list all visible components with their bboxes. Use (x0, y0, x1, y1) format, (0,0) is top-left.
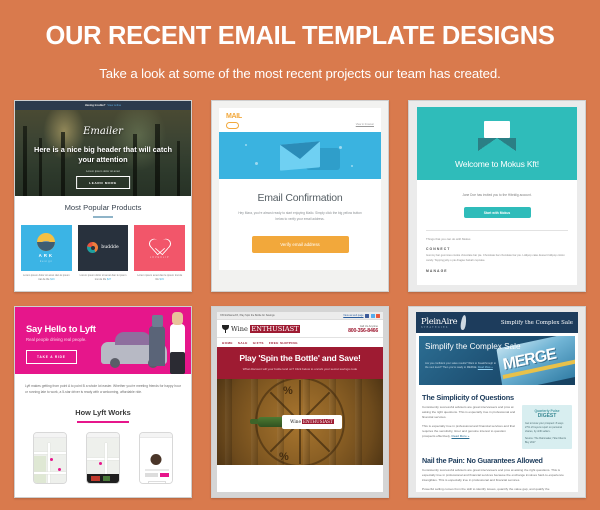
confirmation-body: Hey Mara, you're almost ready to start e… (237, 211, 363, 223)
envelope-icon (478, 121, 516, 151)
emailer-hero-image: Emailer Here is a nice big header that w… (15, 110, 191, 196)
sidebar-body: Get to know your prospect: 8 ways 27% of… (525, 422, 569, 434)
divider (426, 230, 568, 231)
template-card-emailer[interactable]: Having trouble? View online Emailer Here… (14, 100, 192, 292)
article-1-read-more-link[interactable]: Read More » (451, 434, 469, 438)
emailer-topbar-text: Having trouble? (85, 104, 105, 107)
emailer-headline: Here is a nice big header that will catc… (31, 145, 175, 165)
nav-item-home[interactable]: HOME (222, 341, 233, 345)
article-2-heading: Nail the Pain: No Guarantees Allowed (422, 456, 572, 465)
emailer-logo: Emailer (15, 126, 191, 137)
sidebar-number: DIGEST (525, 413, 569, 419)
view-in-browser-link[interactable]: View in browser (356, 123, 374, 126)
bottle-brand-word-1: Wine (290, 419, 301, 424)
template-gallery-grid: Having trouble? View online Emailer Here… (12, 100, 588, 498)
phone-mockup-driver (86, 432, 120, 484)
page-subtitle: Take a look at some of the most recent p… (10, 66, 590, 81)
pleinaire-logo-name: PleinAire (421, 316, 457, 326)
mokus-hero: Welcome to Mokus Kft! (417, 107, 577, 180)
product-price: $29 (50, 278, 54, 281)
rss-icon[interactable] (376, 314, 380, 318)
hero-body: Are you confident your sales results? Wa… (425, 362, 497, 370)
phone-mockup-rate (139, 432, 173, 484)
mokus-invite-text: Jane Doe has invited you to the Hibridig… (417, 193, 577, 197)
wine-banner: Play 'Spin the Bottle' and Save! What di… (217, 347, 383, 379)
confirmation-title: Email Confirmation (219, 192, 381, 204)
product-price: $27 (107, 278, 111, 281)
person-illustration-2 (170, 324, 185, 366)
buddde-logo-icon (87, 242, 98, 253)
product-label: ARK (39, 253, 55, 258)
lyft-hero: Say Hello to Lyft Real people driving re… (15, 307, 191, 374)
template-card-mokus[interactable]: Welcome to Mokus Kft! Jane Doe has invit… (408, 100, 586, 292)
brand-word-2: ENTHUSIAST (250, 325, 300, 333)
page-header: OUR RECENT EMAIL TEMPLATE DESIGNS Take a… (0, 0, 600, 81)
emailer-subline: Lorem ipsum dolor sit amet (15, 169, 191, 173)
mail-logo-pill-icon (226, 122, 239, 129)
bottle-brand-word-2: ENTHUSIAST (302, 419, 334, 424)
hero-read-more-link[interactable]: Read More » (478, 366, 493, 369)
wine-banner-sub: What discount will your bottle land on? … (223, 367, 377, 372)
view-as-web-page-link[interactable]: View as web page (343, 314, 363, 317)
emailer-view-online-link[interactable]: View online (107, 104, 121, 107)
start-with-mokus-button[interactable]: Start with Mokus (464, 207, 531, 218)
product-label: buddde (101, 245, 118, 250)
article-2-paragraph-1: Consistently successful advisors are gre… (422, 468, 572, 483)
mokus-things-label: Things that you can do with Mokus (426, 237, 568, 241)
heart-icon (150, 236, 170, 254)
emailer-products-section: Most Popular Products ARK design Lorem i… (15, 196, 191, 282)
confirmation-footer (219, 270, 381, 284)
envelope-icon (280, 143, 320, 169)
article-2-paragraph-2: Powerful selling comes from the skill to… (422, 487, 572, 492)
wheel-percent-bottom: % (279, 451, 289, 463)
pleinaire-sidebar-box: Quarterly Pulse DIGEST Get to know your … (522, 405, 572, 449)
mail-logo-text: MAIL (226, 113, 242, 120)
barrel-wheel-illustration: % % WineENTHUSIAST (217, 379, 383, 465)
wheel-percent-top: % (283, 385, 293, 397)
product-tile-loveclip[interactable]: LOVECLIP Lorem ipsum amet dan le ipsum t… (134, 225, 185, 282)
lyft-tagline: Real people driving real people. (26, 337, 86, 342)
pleinaire-hero: MERGE Simplify the Complex Sale Are you … (419, 336, 575, 385)
product-tile-buddde[interactable]: buddde Lorem ipsum dolor sit amet dan le… (78, 225, 129, 282)
driver-avatar (151, 454, 162, 465)
facebook-icon[interactable] (365, 314, 369, 318)
twitter-icon[interactable] (371, 314, 375, 318)
feather-icon (460, 315, 467, 331)
mokus-title: Welcome to Mokus Kft! (417, 159, 577, 169)
wine-bottle-spinner[interactable]: WineENTHUSIAST (258, 415, 342, 429)
wine-nav: HOME SALE GIFTS FREE SHIPPING (217, 337, 383, 347)
nav-item-sale[interactable]: SALE (238, 341, 248, 345)
mokus-section-connect-heading: CONNECT (426, 247, 568, 251)
phone-mockup-request (33, 432, 67, 484)
lyft-body-text: Lyft makes getting from point A to point… (25, 383, 181, 396)
lyft-title: Say Hello to Lyft (26, 323, 96, 334)
wine-enthusiast-logo[interactable]: WineENTHUSIAST (222, 325, 300, 333)
product-tile-ark[interactable]: ARK design Lorem ipsum dolor sit amet da… (21, 225, 72, 282)
lyft-works-title: How Lyft Works (25, 408, 181, 417)
ark-logo-icon (37, 233, 55, 251)
template-card-lyft[interactable]: Say Hello to Lyft Real people driving re… (14, 306, 192, 498)
pleinaire-logo: PleinAire STRATEGIES (421, 316, 457, 329)
template-card-pleinaire[interactable]: PleinAire STRATEGIES Simplify the Comple… (408, 306, 586, 498)
phone-number: 800-356-8466 (348, 328, 378, 334)
sidebar-source: Source: The Rainmaker, How Clients Buy 2… (525, 437, 569, 445)
nav-item-gifts[interactable]: GIFTS (253, 341, 264, 345)
wine-banner-title: Play 'Spin the Bottle' and Save! (223, 353, 377, 363)
wine-glass-icon (222, 325, 229, 333)
emailer-section-title: Most Popular Products (15, 203, 191, 212)
product-sublabel: design (40, 260, 53, 263)
pleinaire-logo-sub: STRATEGIES (421, 326, 457, 329)
mokus-section-manage-heading: MANAGE (426, 269, 568, 273)
template-card-wine-enthusiast[interactable]: XXFirstNameXX, Play Spin the Bottle for … (211, 306, 389, 498)
mail-logo: MAIL (226, 113, 242, 129)
brand-word-1: Wine (231, 325, 248, 333)
product-caption: Lorem ipsum dolor sit amet dan le ipsum … (80, 274, 127, 281)
emailer-topbar: Having trouble? View online (15, 101, 191, 110)
template-card-email-confirmation[interactable]: MAIL View in browser Email (211, 100, 389, 292)
product-label: LOVECLIP (150, 256, 170, 259)
verify-email-button[interactable]: Verify email address (252, 236, 349, 253)
product-price: $33 (160, 278, 164, 281)
wine-topbar-text: XXFirstNameXX, Play Spin the Bottle for … (220, 314, 275, 317)
person-illustration-1 (149, 326, 165, 366)
article-1-paragraph-1: Consistently successful advisors are gre… (422, 405, 517, 420)
confirmation-hero (219, 132, 381, 179)
pleinaire-tagline: Simplify the Complex Sale (501, 320, 573, 326)
mokus-section-connect-text: Gummy bar gummies cookie chocolate bar p… (426, 254, 568, 263)
hero-title: Simplify the Complex Sale (425, 342, 521, 351)
take-a-ride-button[interactable]: TAKE A RIDE (26, 350, 77, 364)
article-1-heading: The Simplicity of Questions (422, 393, 572, 402)
page-title: OUR RECENT EMAIL TEMPLATE DESIGNS (10, 22, 590, 50)
product-caption: Lorem ipsum dolor sit amet dan le ipsum … (23, 274, 70, 281)
nav-item-free-shipping[interactable]: FREE SHIPPING (269, 341, 298, 345)
emailer-learn-more-button[interactable]: LEARN MORE (76, 176, 130, 189)
